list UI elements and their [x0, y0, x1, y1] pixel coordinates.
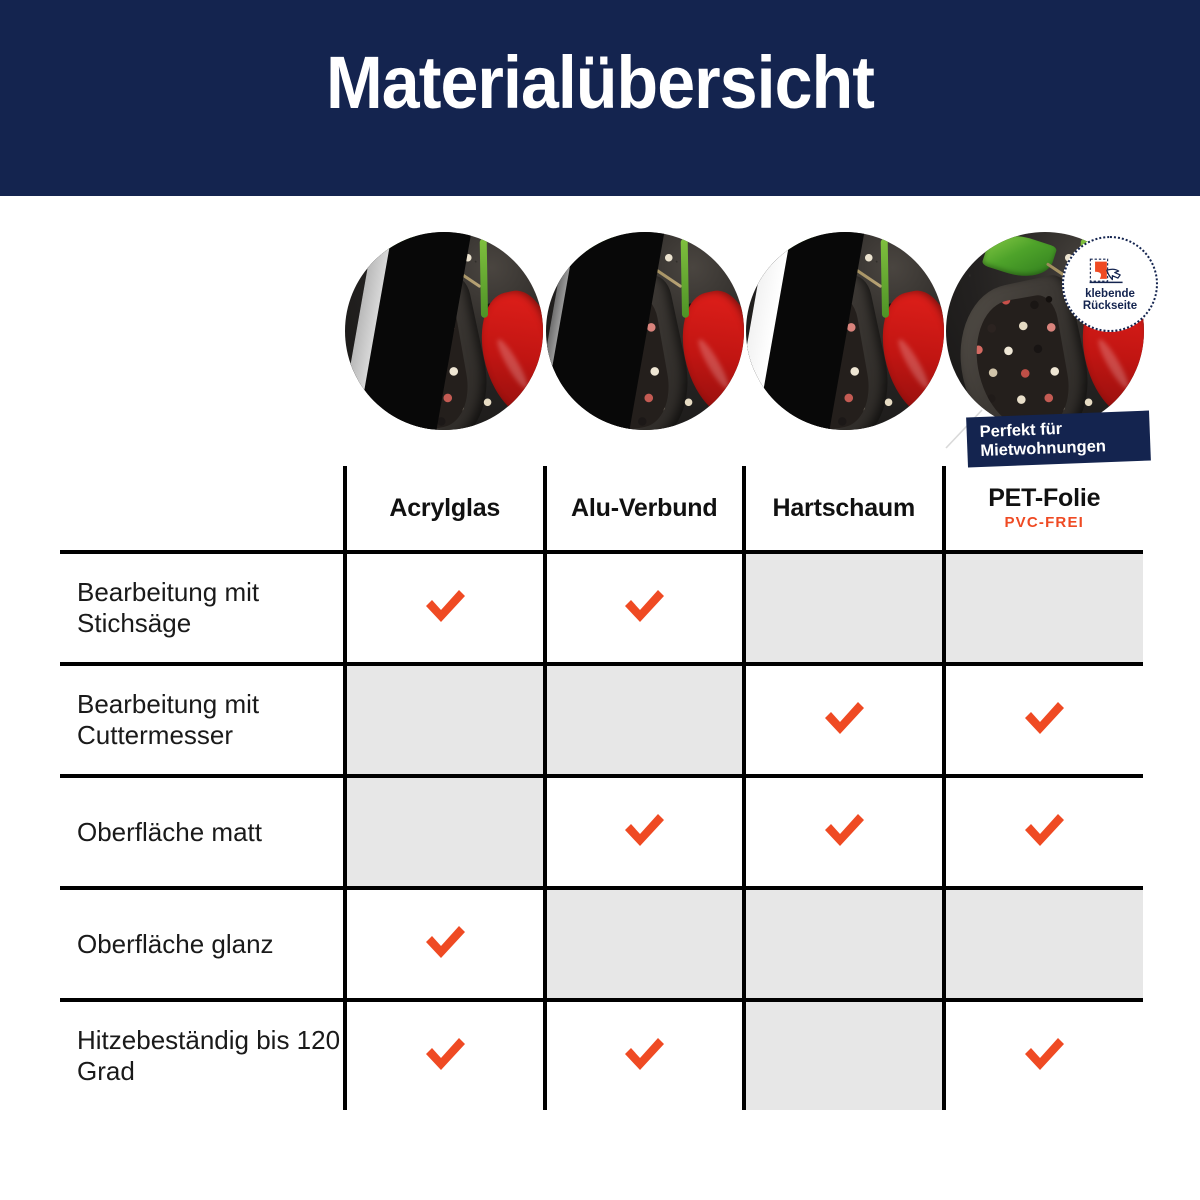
badge-text: klebende Rückseite [1083, 288, 1137, 313]
cell-r2-c3 [944, 776, 1144, 888]
cell-r2-c0 [345, 776, 545, 888]
check-icon [1021, 698, 1067, 738]
cell-r2-c2 [744, 776, 944, 888]
perfekt-fuer-mietwohnungen-ribbon: Perfekt für Mietwohnungen [966, 411, 1151, 468]
header-label: Alu-Verbund [547, 495, 743, 521]
table-row: Oberfläche matt [60, 776, 1143, 888]
row-label: Oberfläche glanz [60, 888, 345, 1000]
page-title: Materialübersicht [48, 46, 1152, 120]
product-image-row [0, 232, 1200, 442]
table-row: Bearbeitung mit Stichsäge [60, 552, 1143, 664]
cell-r0-c1 [545, 552, 745, 664]
check-icon [422, 586, 468, 626]
cell-r1-c0 [345, 664, 545, 776]
cell-r4-c3 [944, 1000, 1144, 1110]
product-image-hartschaum [746, 232, 944, 430]
header-cell-hartschaum: Hartschaum [744, 466, 944, 552]
product-image-alu-verbund [546, 232, 744, 430]
header-label: Acrylglas [347, 495, 543, 521]
cell-r3-c3 [944, 888, 1144, 1000]
table-row: Hitzebeständig bis 120 Grad [60, 1000, 1143, 1110]
check-icon [422, 1034, 468, 1074]
material-comparison-table: Acrylglas Alu-Verbund Hartschaum PET-Fol… [60, 466, 1143, 1110]
header-cell-alu-verbund: Alu-Verbund [545, 466, 745, 552]
peel-sticker-icon [1088, 256, 1132, 286]
cell-r4-c1 [545, 1000, 745, 1110]
check-icon [621, 586, 667, 626]
check-icon [1021, 810, 1067, 850]
header-sublabel-pvc-frei: PVC-FREI [946, 514, 1144, 531]
cell-r0-c2 [744, 552, 944, 664]
cell-r0-c0 [345, 552, 545, 664]
header-cell-blank [60, 466, 345, 552]
row-label: Oberfläche matt [60, 776, 345, 888]
row-label: Bearbeitung mit Stichsäge [60, 552, 345, 664]
product-image-acrylglas [345, 232, 543, 430]
cell-r1-c1 [545, 664, 745, 776]
row-label: Bearbeitung mit Cuttermesser [60, 664, 345, 776]
row-label: Hitzebeständig bis 120 Grad [60, 1000, 345, 1110]
badge-line-1: klebende [1083, 288, 1137, 300]
cell-r4-c0 [345, 1000, 545, 1110]
check-icon [422, 922, 468, 962]
cell-r1-c3 [944, 664, 1144, 776]
table-row: Bearbeitung mit Cuttermesser [60, 664, 1143, 776]
cell-r1-c2 [744, 664, 944, 776]
table-header-row: Acrylglas Alu-Verbund Hartschaum PET-Fol… [60, 466, 1143, 552]
cell-r2-c1 [545, 776, 745, 888]
klebende-rueckseite-badge: klebende Rückseite [1062, 236, 1158, 332]
check-icon [621, 1034, 667, 1074]
header-label: Hartschaum [746, 495, 942, 521]
header-cell-pet-folie: PET-Folie PVC-FREI [944, 466, 1144, 552]
badge-line-2: Rückseite [1083, 300, 1137, 312]
table-body: Bearbeitung mit Stichsäge Bearbeitung mi… [60, 552, 1143, 1110]
table-row: Oberfläche glanz [60, 888, 1143, 1000]
check-icon [821, 810, 867, 850]
cell-r3-c1 [545, 888, 745, 1000]
cell-r3-c2 [744, 888, 944, 1000]
check-icon [1021, 1034, 1067, 1074]
cell-r0-c3 [944, 552, 1144, 664]
cell-r3-c0 [345, 888, 545, 1000]
header-cell-acrylglas: Acrylglas [345, 466, 545, 552]
check-icon [821, 698, 867, 738]
check-icon [621, 810, 667, 850]
header-label: PET-Folie [946, 485, 1144, 511]
cell-r4-c2 [744, 1000, 944, 1110]
